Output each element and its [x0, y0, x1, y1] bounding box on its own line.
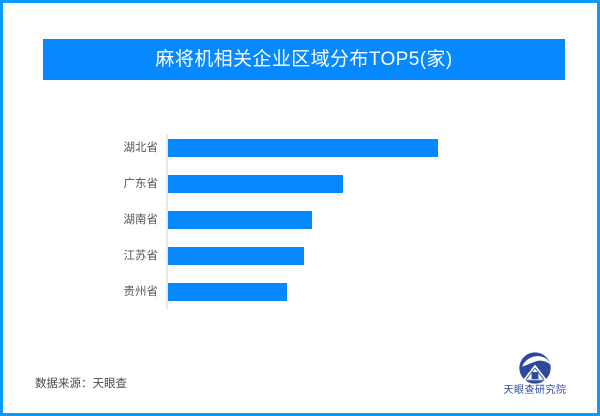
bar-category-label: 江苏省 [3, 247, 158, 265]
bar-value-rect [168, 247, 304, 265]
chart-title-banner: 麻将机相关企业区域分布TOP5(家) [43, 39, 565, 80]
bar-chart: 湖北省广东省湖南省江苏省贵州省 [3, 113, 600, 323]
bar-row: 湖南省 [3, 211, 600, 229]
bar-value-rect [168, 139, 438, 157]
bar-value-rect [168, 211, 312, 229]
bar-row: 广东省 [3, 175, 600, 193]
bar-category-label: 广东省 [3, 175, 158, 193]
data-source-note: 数据来源：天眼查 [35, 375, 127, 391]
page-title: 麻将机相关企业区域分布TOP5(家) [155, 50, 452, 69]
bar-category-label: 贵州省 [3, 283, 158, 301]
brand-logo: 天眼查研究院 [489, 351, 581, 401]
brand-wordmark: 天眼查研究院 [504, 386, 567, 396]
bar-row: 江苏省 [3, 247, 600, 265]
bar-value-rect [168, 283, 287, 301]
chart-plot-area: 湖北省广东省湖南省江苏省贵州省 [3, 113, 600, 323]
bar-category-label: 湖北省 [3, 139, 158, 157]
bar-value-rect [168, 175, 343, 193]
bar-row: 贵州省 [3, 283, 600, 301]
tianyancha-swoosh-logo-icon [518, 351, 552, 385]
infographic-canvas: 麻将机相关企业区域分布TOP5(家) 湖北省广东省湖南省江苏省贵州省 数据来源：… [0, 0, 600, 416]
bar-row: 湖北省 [3, 139, 600, 157]
bar-category-label: 湖南省 [3, 211, 158, 229]
